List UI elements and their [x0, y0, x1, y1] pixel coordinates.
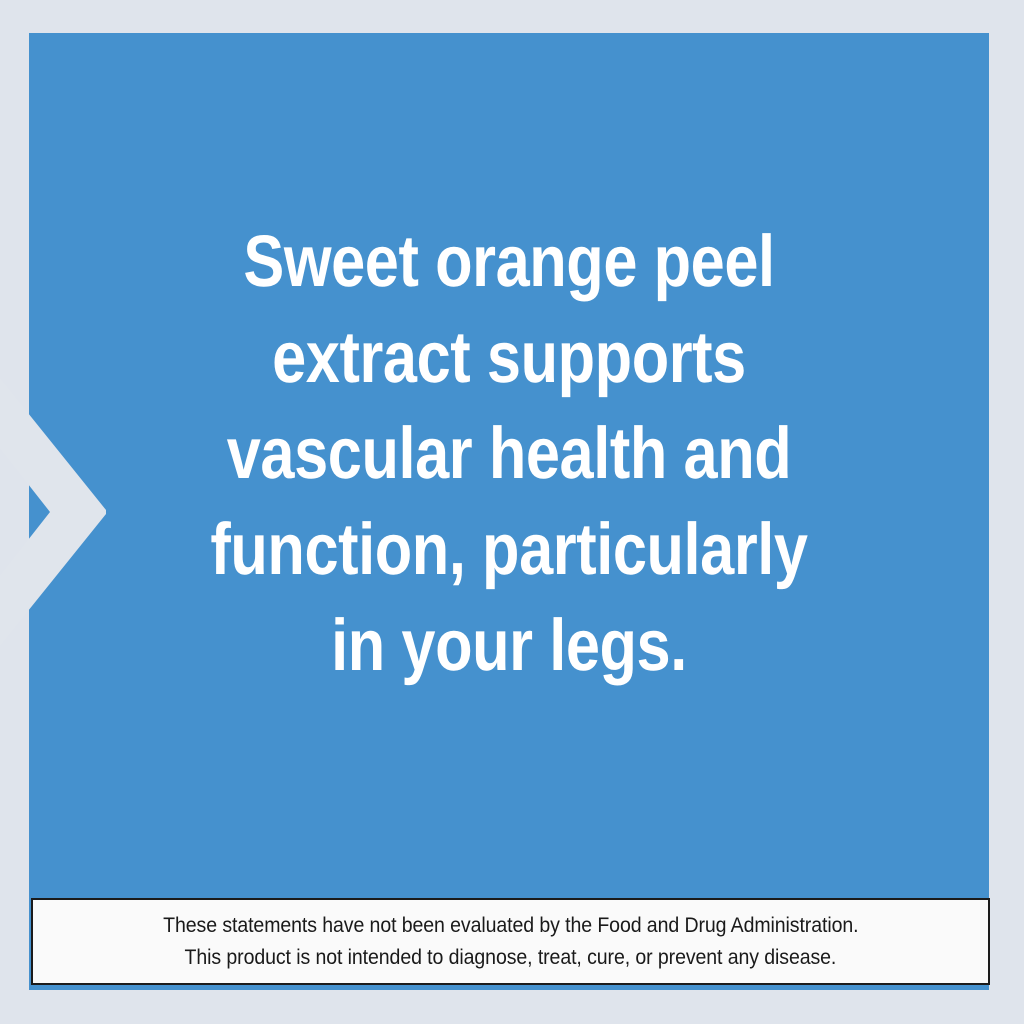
fda-disclaimer-box: These statements have not been evaluated…	[31, 898, 990, 985]
disclaimer-line-2: This product is not intended to diagnose…	[185, 942, 837, 974]
disclaimer-line-1: These statements have not been evaluated…	[163, 910, 858, 942]
page-title: Sweet orange peel extract supports vascu…	[106, 214, 912, 694]
claim-card: Sweet orange peel extract supports vascu…	[0, 0, 1024, 1024]
